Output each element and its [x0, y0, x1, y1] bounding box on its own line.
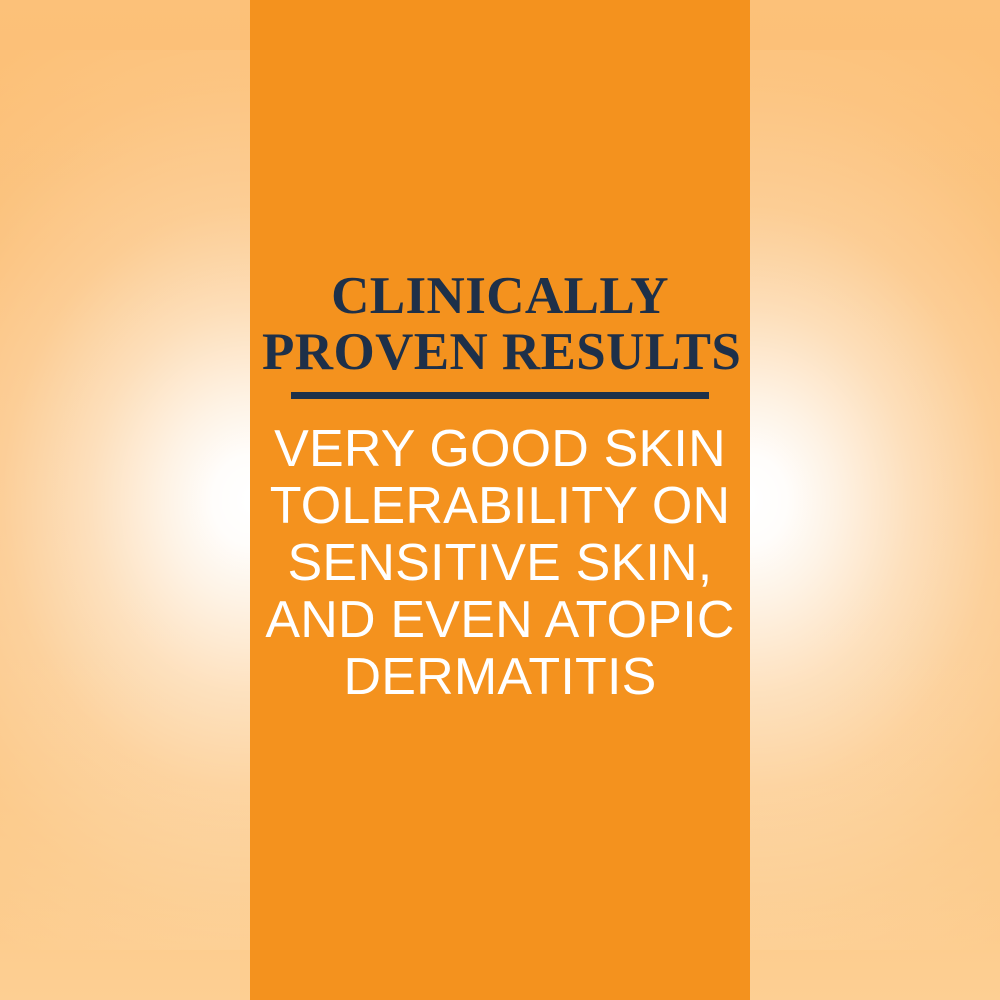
subhead-line-1: VERY GOOD SKIN	[256, 421, 744, 478]
light-source-glow-right	[750, 50, 1000, 950]
panel-content: CLINICALLY PROVEN RESULTS VERY GOOD SKIN…	[250, 268, 750, 706]
subhead-line-2: TOLERABILITY ON	[256, 478, 744, 535]
subhead-line-4: AND EVEN ATOPIC	[256, 592, 744, 649]
subheading-text: VERY GOOD SKIN TOLERABILITY ON SENSITIVE…	[250, 421, 750, 706]
light-source-glow-left	[0, 50, 250, 950]
background-sunburst-left	[0, 0, 250, 1000]
subhead-line-5: DERMATITIS	[256, 649, 744, 706]
page-title: CLINICALLY PROVEN RESULTS	[250, 268, 750, 380]
title-underline-rule	[291, 392, 709, 399]
promotional-banner: CLINICALLY PROVEN RESULTS VERY GOOD SKIN…	[0, 0, 1000, 1000]
headline-line-2: PROVEN RESULTS	[262, 324, 738, 380]
center-orange-panel: CLINICALLY PROVEN RESULTS VERY GOOD SKIN…	[250, 0, 750, 1000]
subhead-line-3: SENSITIVE SKIN,	[256, 535, 744, 592]
background-sunburst-right	[750, 0, 1000, 1000]
headline-line-1: CLINICALLY	[262, 268, 738, 324]
